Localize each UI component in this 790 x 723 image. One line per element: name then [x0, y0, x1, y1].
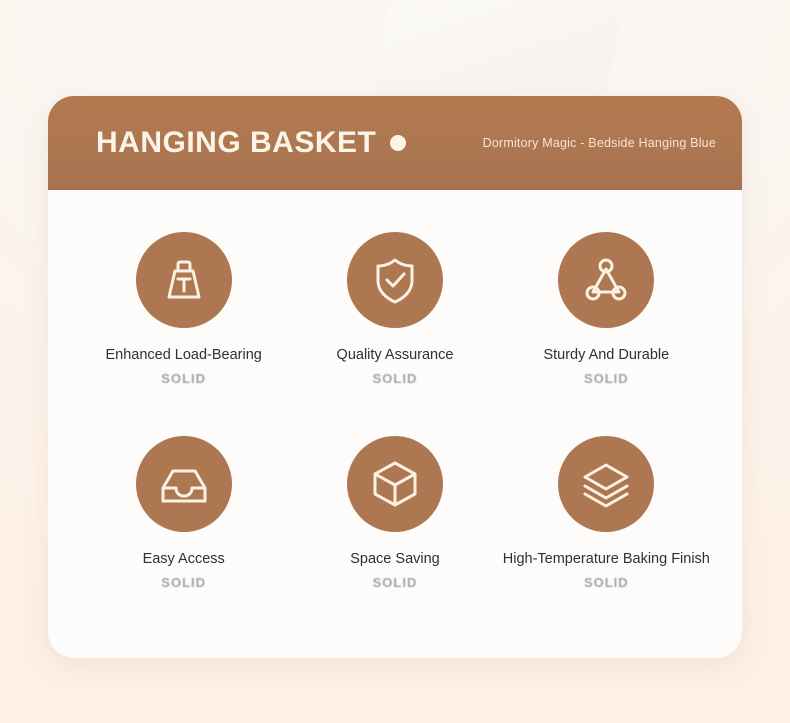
- page-background: HANGING BASKET Dormitory Magic - Bedside…: [0, 0, 790, 723]
- feature-item[interactable]: Enhanced Load-Bearing SOLID: [78, 232, 289, 386]
- feature-sublabel: SOLID: [161, 575, 206, 590]
- feature-item[interactable]: Quality Assurance SOLID: [289, 232, 500, 386]
- triangle-nodes-icon: [558, 232, 654, 328]
- feature-item[interactable]: Sturdy And Durable SOLID: [501, 232, 712, 386]
- title-dot-icon: [390, 135, 406, 151]
- feature-label: Sturdy And Durable: [543, 347, 669, 363]
- feature-label: Enhanced Load-Bearing: [105, 347, 261, 363]
- feature-label: Easy Access: [143, 551, 225, 567]
- feature-label: Space Saving: [350, 551, 439, 567]
- layers-stack-icon: [558, 436, 654, 532]
- feature-item[interactable]: Space Saving SOLID: [289, 436, 500, 590]
- inbox-tray-icon: [136, 436, 232, 532]
- feature-sublabel: SOLID: [161, 371, 206, 386]
- feature-label: High-Temperature Baking Finish: [503, 551, 710, 567]
- weight-icon: [136, 232, 232, 328]
- shield-check-icon: [347, 232, 443, 328]
- feature-sublabel: SOLID: [584, 371, 629, 386]
- feature-sublabel: SOLID: [373, 575, 418, 590]
- header-subtitle: Dormitory Magic - Bedside Hanging Blue: [483, 136, 716, 150]
- header-title-text: HANGING BASKET: [96, 126, 376, 160]
- cube-box-icon: [347, 436, 443, 532]
- card-header: HANGING BASKET Dormitory Magic - Bedside…: [48, 96, 742, 190]
- feature-label: Quality Assurance: [337, 347, 454, 363]
- page-title: HANGING BASKET: [96, 126, 406, 160]
- feature-grid: Enhanced Load-Bearing SOLID Quality Assu…: [48, 190, 742, 590]
- feature-item[interactable]: Easy Access SOLID: [78, 436, 289, 590]
- feature-sublabel: SOLID: [373, 371, 418, 386]
- feature-sublabel: SOLID: [584, 575, 629, 590]
- product-feature-card: HANGING BASKET Dormitory Magic - Bedside…: [48, 96, 742, 658]
- feature-item[interactable]: High-Temperature Baking Finish SOLID: [501, 436, 712, 590]
